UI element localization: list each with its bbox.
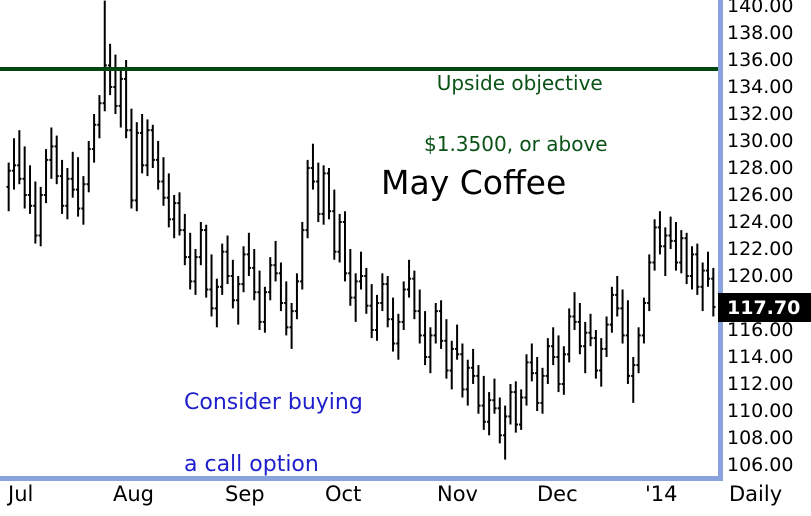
price-tick: 112.00 [727, 373, 793, 395]
time-tick: Dec [537, 482, 578, 506]
advice-line2: a call option [184, 452, 319, 477]
price-tick: 110.00 [727, 400, 793, 422]
price-tick: 140.00 [727, 0, 793, 17]
price-tick: 114.00 [727, 346, 793, 368]
objective-line2: $1.3500, or above [424, 130, 608, 158]
price-axis: 140.00138.00136.00134.00132.00130.00128.… [727, 0, 811, 481]
price-tick: 128.00 [727, 157, 793, 179]
price-tick: 120.00 [727, 265, 793, 287]
price-tick: 126.00 [727, 184, 793, 206]
time-tick: Sep [225, 482, 265, 506]
advice-line1: Consider buying [184, 390, 363, 415]
price-tick: 116.00 [727, 319, 793, 341]
chart-right-border [718, 0, 723, 481]
price-tick: 134.00 [727, 76, 793, 98]
time-tick: Oct [325, 482, 361, 506]
objective-line1: Upside objective [437, 71, 603, 95]
price-tick: 136.00 [727, 49, 793, 71]
period-label: Daily [729, 482, 782, 506]
time-tick: Nov [437, 482, 478, 506]
price-tick: 106.00 [727, 454, 793, 476]
price-tick: 122.00 [727, 238, 793, 260]
trade-advice-annotation: Consider buying a call option [170, 356, 363, 480]
time-axis: Daily JulAugSepOctNovDec'14 [0, 481, 811, 516]
current-price-value: 117.70 [727, 297, 800, 319]
price-tick: 130.00 [727, 130, 793, 152]
current-price-badge: 117.70 [718, 293, 811, 322]
time-tick: Aug [113, 482, 154, 506]
price-tick: 124.00 [727, 211, 793, 233]
price-tick: 132.00 [727, 103, 793, 125]
price-tick: 108.00 [727, 427, 793, 449]
upside-objective-line [0, 67, 723, 71]
time-tick: Jul [8, 482, 33, 506]
time-tick: '14 [645, 482, 678, 506]
price-tick: 138.00 [727, 22, 793, 44]
page-title: May Coffee [381, 163, 566, 202]
